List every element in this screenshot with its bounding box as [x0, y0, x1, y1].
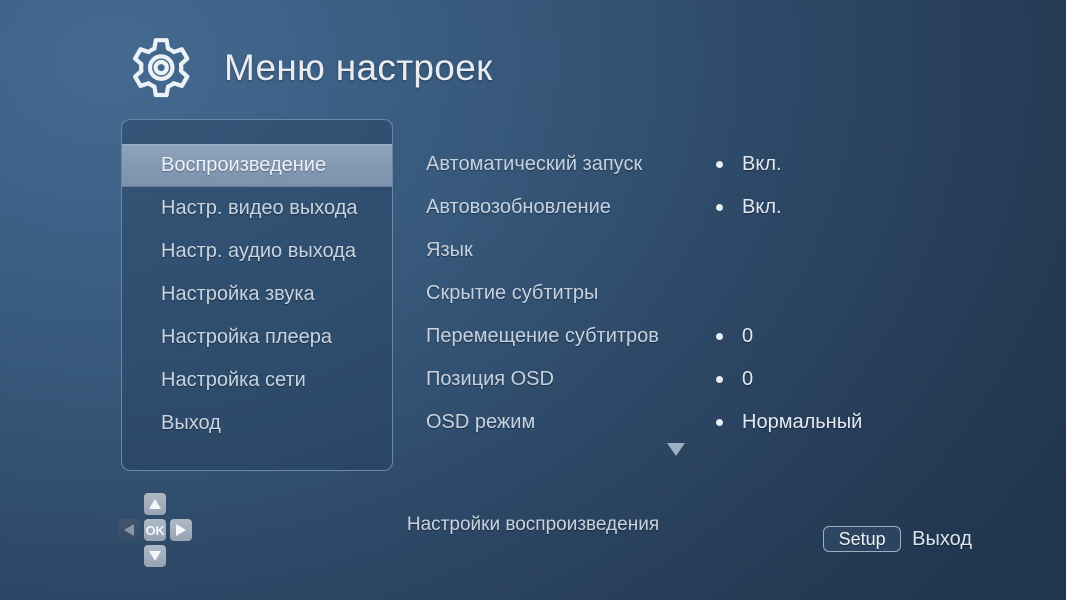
- setting-row[interactable]: Скрытие субтитры: [426, 272, 986, 315]
- bullet-icon: [716, 333, 723, 340]
- settings-menu-screen: Меню настроек Воспроизведение Настр. вид…: [0, 0, 1066, 600]
- sidebar-item-network-setup[interactable]: Настройка сети: [122, 359, 392, 402]
- dpad-down-button[interactable]: [144, 545, 166, 567]
- gear-icon: [128, 34, 196, 102]
- setting-value-group[interactable]: 0: [716, 368, 753, 391]
- header: Меню настроек: [128, 32, 493, 104]
- setting-row[interactable]: Язык: [426, 229, 986, 272]
- exit-label: Выход: [912, 528, 972, 551]
- sidebar-item-label: Воспроизведение: [161, 154, 326, 177]
- setting-value-group[interactable]: Вкл.: [716, 196, 782, 219]
- setting-label: Язык: [426, 239, 716, 262]
- sidebar-item-label: Настройка плеера: [161, 326, 332, 349]
- dpad-up-button[interactable]: [144, 493, 166, 515]
- sidebar-item-sound-setup[interactable]: Настройка звука: [122, 273, 392, 316]
- setting-label: Автоматический запуск: [426, 153, 716, 176]
- setting-value: Нормальный: [742, 411, 862, 434]
- setting-value: 0: [742, 325, 753, 348]
- setting-value: 0: [742, 368, 753, 391]
- page-title: Меню настроек: [224, 47, 493, 89]
- bullet-icon: [716, 204, 723, 211]
- sidebar-item-label: Настройка звука: [161, 283, 315, 306]
- setup-button[interactable]: Setup: [823, 526, 901, 552]
- sidebar-item-video-output[interactable]: Настр. видео выхода: [122, 187, 392, 230]
- setting-label: OSD режим: [426, 411, 716, 434]
- sidebar-panel: Воспроизведение Настр. видео выхода Наст…: [121, 119, 393, 471]
- bullet-icon: [716, 376, 723, 383]
- setting-row[interactable]: Перемещение субтитров 0: [426, 315, 986, 358]
- setting-value-group[interactable]: Нормальный: [716, 411, 862, 434]
- arrow-up-icon: [149, 499, 161, 509]
- sidebar-list: Воспроизведение Настр. видео выхода Наст…: [122, 144, 392, 445]
- setting-row[interactable]: Автовозобновление Вкл.: [426, 186, 986, 229]
- sidebar-item-label: Настр. аудио выхода: [161, 240, 356, 263]
- setting-value-group[interactable]: Вкл.: [716, 153, 782, 176]
- setting-label: Скрытие субтитры: [426, 282, 716, 305]
- bullet-icon: [716, 161, 723, 168]
- footer-exit-group: Setup Выход: [823, 526, 972, 552]
- setting-value: Вкл.: [742, 196, 782, 219]
- sidebar-item-exit[interactable]: Выход: [122, 402, 392, 445]
- setting-value-group[interactable]: [716, 247, 742, 254]
- setting-label: Автовозобновление: [426, 196, 716, 219]
- setting-row[interactable]: Позиция OSD 0: [426, 358, 986, 401]
- sidebar-item-playback[interactable]: Воспроизведение: [122, 144, 392, 187]
- sidebar-item-label: Настройка сети: [161, 369, 306, 392]
- sidebar-item-player-setup[interactable]: Настройка плеера: [122, 316, 392, 359]
- setting-label: Позиция OSD: [426, 368, 716, 391]
- sidebar-item-audio-output[interactable]: Настр. аудио выхода: [122, 230, 392, 273]
- arrow-down-icon: [149, 551, 161, 561]
- setting-value: Вкл.: [742, 153, 782, 176]
- setting-value-group[interactable]: [716, 290, 742, 297]
- setting-row[interactable]: Автоматический запуск Вкл.: [426, 143, 986, 186]
- sidebar-item-label: Выход: [161, 412, 221, 435]
- setting-value-group[interactable]: 0: [716, 325, 753, 348]
- setting-row[interactable]: OSD режим Нормальный: [426, 401, 986, 444]
- setting-label: Перемещение субтитров: [426, 325, 716, 348]
- sidebar-item-label: Настр. видео выхода: [161, 197, 357, 220]
- settings-list: Автоматический запуск Вкл. Автовозобновл…: [426, 143, 986, 444]
- bullet-icon: [716, 419, 723, 426]
- triangle-down-icon[interactable]: [667, 443, 685, 456]
